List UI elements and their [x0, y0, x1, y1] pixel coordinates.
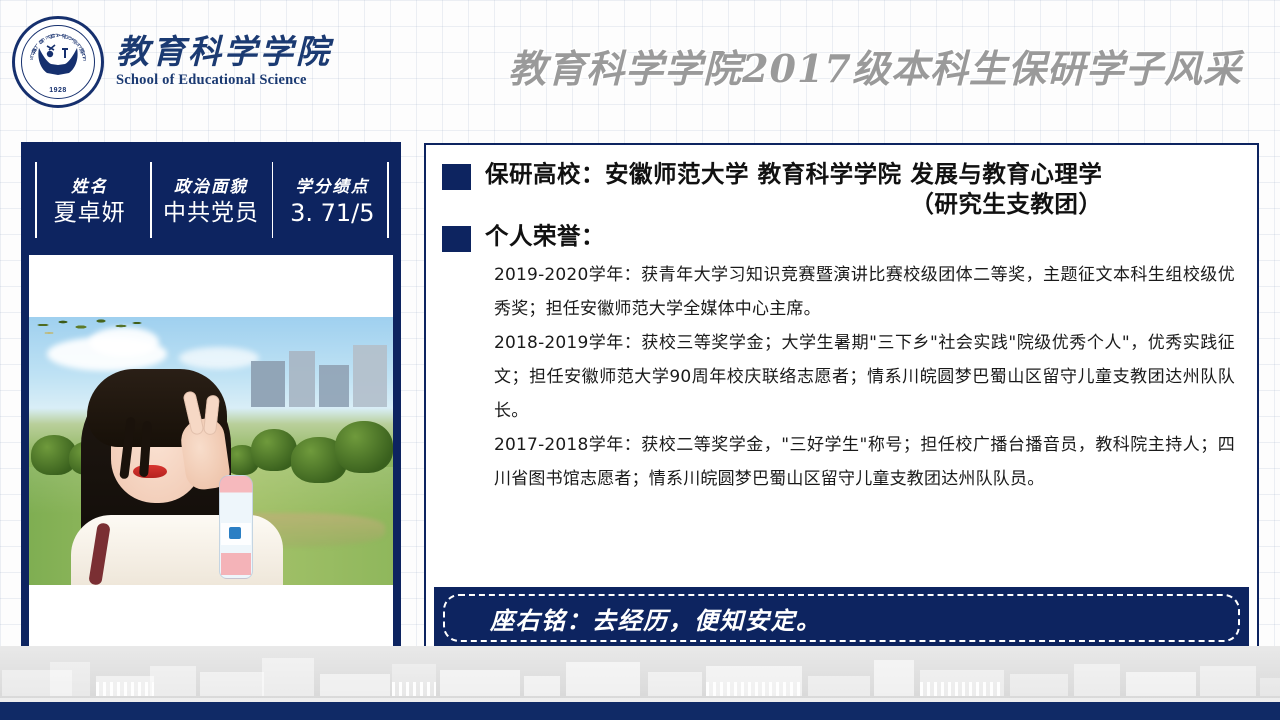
- info-header-name: 姓名: [71, 173, 108, 197]
- school-line-sub: （研究生支教团）: [485, 189, 1102, 219]
- school-line-main: 保研高校：安徽师范大学 教育科学学院 发展与教育心理学: [485, 160, 1102, 188]
- building-silhouette: [440, 670, 520, 696]
- building-silhouette: [874, 660, 914, 696]
- school-line-row: 保研高校：安徽师范大学 教育科学学院 发展与教育心理学 （研究生支教团）: [442, 159, 1241, 219]
- page-title: 教育科学学院2017级本科生保研学子风采: [480, 38, 1270, 93]
- motto-box: 座右铭：去经历，便知安定。: [434, 587, 1249, 649]
- seal-hands-glyph-icon: [35, 42, 81, 76]
- school-seal-icon: 教育科学学院SCHOOL OF EDUCATIONAL SCIENCE 1928: [12, 16, 104, 108]
- building-silhouette: [200, 672, 264, 696]
- building-colonnade: [920, 682, 1004, 696]
- info-header-political-status: 政治面貌: [174, 173, 248, 197]
- honors-item: 2018-2019学年：获校三等奖学金；大学生暑期"三下乡"社会实践"院级优秀个…: [494, 326, 1235, 428]
- info-cell-political-status: 政治面貌 中共党员: [150, 150, 271, 250]
- building-silhouette: [1074, 664, 1120, 696]
- square-bullet-icon: [442, 164, 471, 190]
- honors-list: 2019-2020学年：获青年大学习知识竞赛暨演讲比赛校级团体二等奖，主题征文本…: [442, 258, 1241, 496]
- building-colonnade: [392, 682, 436, 696]
- honors-label-row: 个人荣誉：: [442, 221, 1241, 252]
- building-silhouette: [150, 666, 196, 696]
- seal-year: 1928: [15, 87, 101, 94]
- foliage-shape: [29, 317, 149, 347]
- logo-name-cn: 教育科学学院: [116, 35, 332, 70]
- building-silhouette: [566, 662, 640, 696]
- info-cell-gpa: 学分绩点 3. 71/5: [272, 150, 393, 250]
- details-card: 保研高校：安徽师范大学 教育科学学院 发展与教育心理学 （研究生支教团） 个人荣…: [424, 143, 1259, 659]
- honors-label: 个人荣誉：: [485, 221, 605, 251]
- building-silhouette: [1010, 674, 1068, 696]
- info-header-gpa: 学分绩点: [295, 173, 369, 197]
- building-silhouette: [320, 674, 390, 696]
- logo-name-en: School of Educational Science: [116, 72, 332, 89]
- honors-item: 2019-2020学年：获青年大学习知识竞赛暨演讲比赛校级团体二等奖，主题征文本…: [494, 258, 1235, 326]
- tree-shape: [335, 421, 393, 473]
- building-silhouette: [524, 676, 560, 696]
- profile-info-table: 姓名 夏卓妍 政治面貌 中共党员 学分绩点 3. 71/5: [29, 150, 393, 250]
- bottle-logo-icon: [229, 527, 241, 539]
- info-value-political-status: 中共党员: [163, 200, 259, 226]
- slide-canvas: 教育科学学院SCHOOL OF EDUCATIONAL SCIENCE 1928…: [0, 0, 1280, 720]
- building-silhouette: [1260, 678, 1280, 696]
- building-silhouette: [50, 662, 90, 696]
- profile-card: 姓名 夏卓妍 政治面貌 中共党员 学分绩点 3. 71/5: [21, 142, 401, 659]
- profile-photo: [29, 317, 393, 585]
- school-logo: 教育科学学院SCHOOL OF EDUCATIONAL SCIENCE 1928…: [12, 16, 332, 108]
- building-colonnade: [706, 682, 802, 696]
- building-silhouette: [262, 658, 314, 696]
- bottle-sleeve-shape: [221, 553, 251, 575]
- motto-text: 座右铭：去经历，便知安定。: [490, 601, 822, 636]
- building-silhouette: [1200, 666, 1256, 696]
- person-figure: [71, 347, 281, 585]
- info-value-name: 夏卓妍: [54, 200, 126, 226]
- info-cell-name: 姓名 夏卓妍: [29, 150, 150, 250]
- info-value-gpa: 3. 71/5: [290, 200, 374, 228]
- building-silhouette: [808, 676, 870, 696]
- building-silhouette: [1126, 672, 1196, 696]
- footer-skyline: [0, 646, 1280, 702]
- school-line-text: 保研高校：安徽师范大学 教育科学学院 发展与教育心理学 （研究生支教团）: [485, 159, 1102, 219]
- square-bullet-icon: [442, 226, 471, 252]
- building-colonnade: [96, 682, 154, 696]
- building-silhouette: [648, 672, 702, 696]
- footer-bar: [0, 702, 1280, 720]
- profile-photo-panel: [29, 255, 393, 651]
- honors-item: 2017-2018学年：获校二等奖学金，"三好学生"称号；担任校广播台播音员，教…: [494, 428, 1235, 496]
- lips-shape: [133, 465, 167, 478]
